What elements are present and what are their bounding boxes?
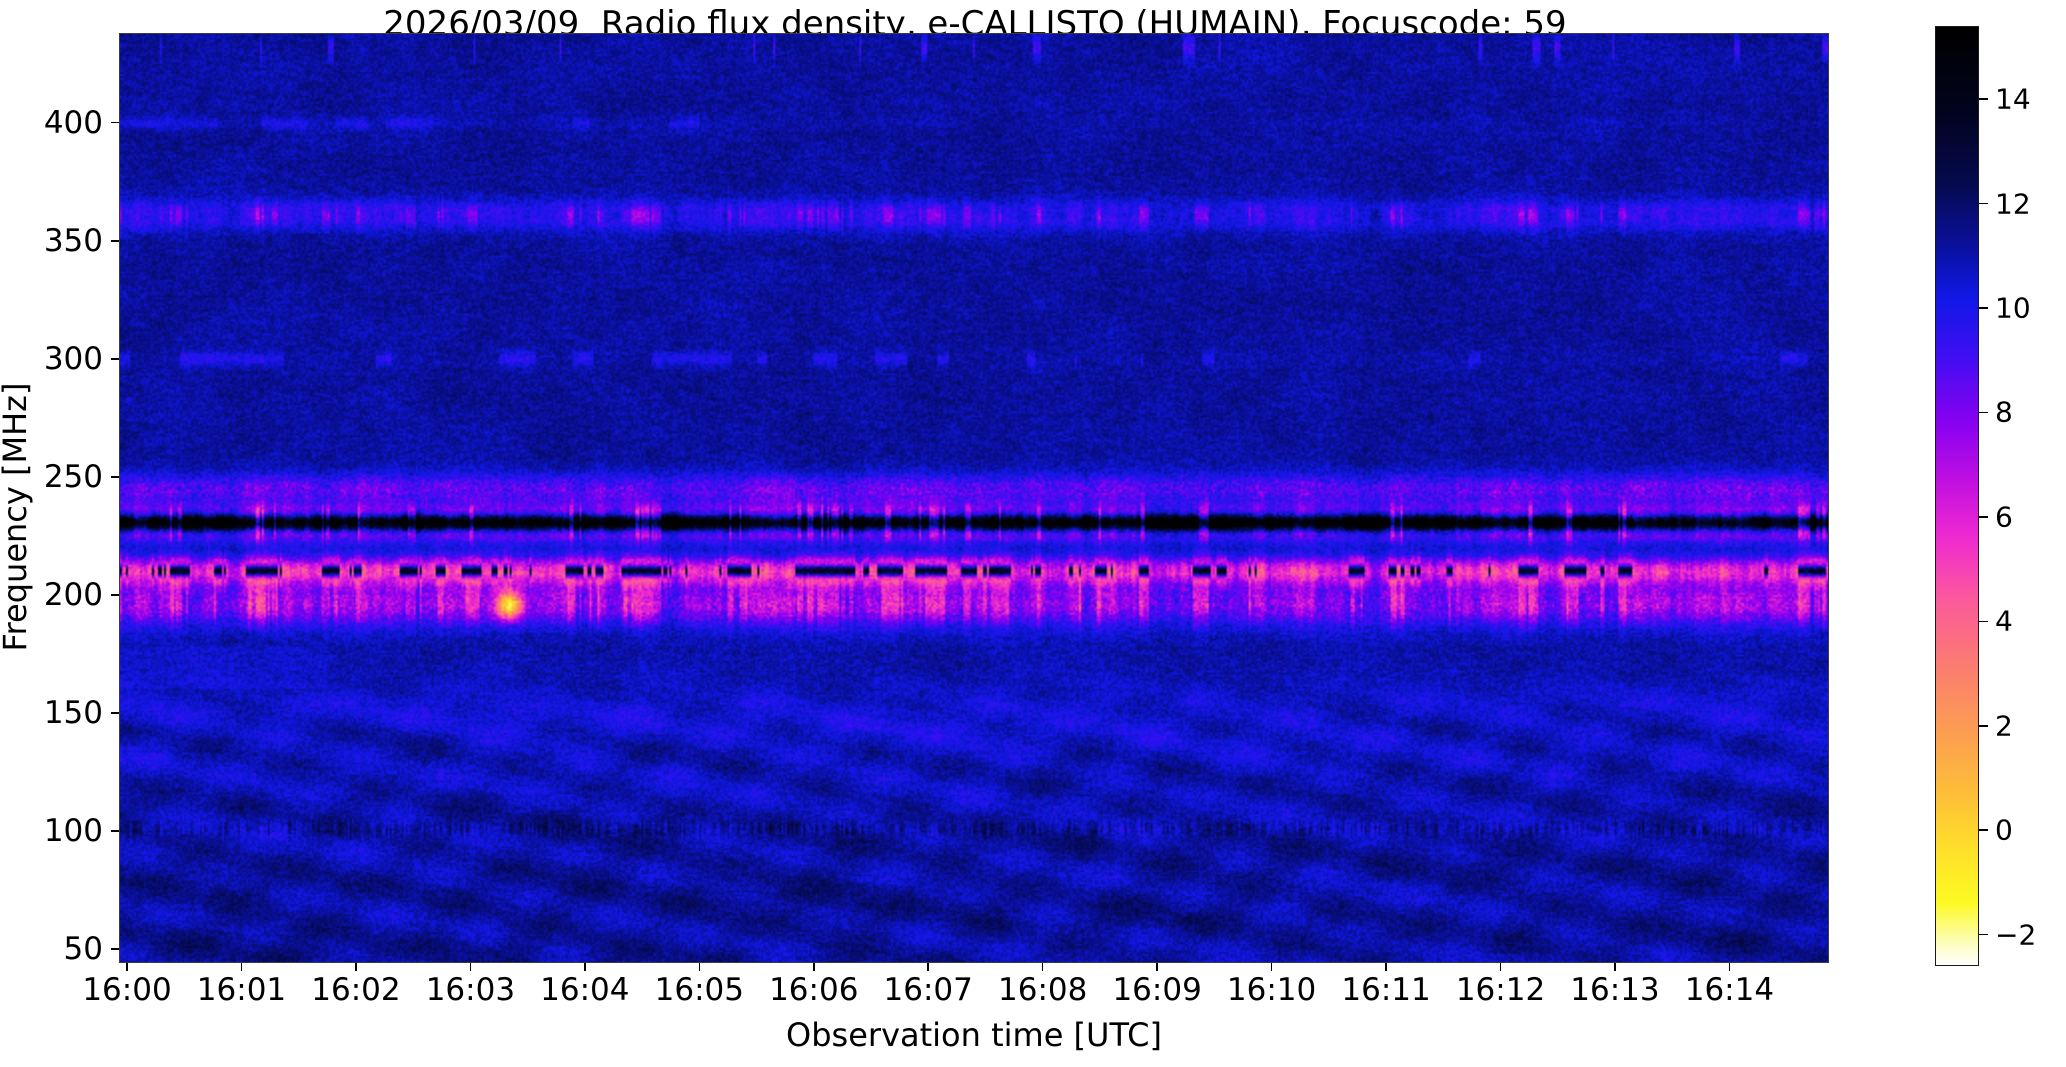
colorbar-tick-label: 10 [1995, 292, 2031, 325]
colorbar-tick-mark [1979, 203, 1988, 205]
x-tick-mark [126, 963, 128, 971]
x-tick-label: 16:12 [1456, 972, 1545, 1008]
x-tick-label: 16:10 [1227, 972, 1316, 1008]
y-tick-label: 350 [44, 223, 103, 259]
x-tick-label: 16:04 [540, 972, 629, 1008]
x-tick-mark [1729, 963, 1731, 971]
colorbar-tick-mark [1979, 829, 1988, 831]
colorbar-tick-label: 2 [1995, 709, 2013, 742]
figure-canvas: 2026/03/09 Radio flux density, e-CALLIST… [0, 0, 2066, 1067]
x-tick-mark [927, 963, 929, 971]
colorbar-tick-label: 14 [1995, 83, 2031, 116]
x-tick-label: 16:08 [998, 972, 1087, 1008]
x-tick-mark [355, 963, 357, 971]
x-tick-mark [241, 963, 243, 971]
x-tick-mark [470, 963, 472, 971]
x-tick-label: 16:14 [1685, 972, 1774, 1008]
x-tick-mark [1614, 963, 1616, 971]
y-tick-mark [111, 122, 119, 124]
x-axis-label: Observation time [UTC] [119, 1016, 1829, 1054]
spectrogram-axes[interactable] [119, 33, 1829, 963]
colorbar-tick-mark [1979, 516, 1988, 518]
x-tick-mark [1500, 963, 1502, 971]
x-tick-label: 16:09 [1112, 972, 1201, 1008]
colorbar-tick-mark [1979, 98, 1988, 100]
colorbar-tick-mark [1979, 934, 1988, 936]
y-tick-mark [111, 240, 119, 242]
x-tick-label: 16:02 [311, 972, 400, 1008]
x-tick-mark [1156, 963, 1158, 971]
colorbar-tick-mark [1979, 307, 1988, 309]
y-tick-mark [111, 712, 119, 714]
x-tick-label: 16:03 [426, 972, 515, 1008]
colorbar-tick-mark [1979, 725, 1988, 727]
y-tick-label: 50 [64, 931, 103, 967]
y-axis-label: Frequency [MHz] [0, 197, 34, 837]
colorbar-tick-label: 6 [1995, 500, 2013, 533]
colorbar-tick-label: 0 [1995, 814, 2013, 847]
spectrogram-image [120, 34, 1828, 962]
x-tick-mark [699, 963, 701, 971]
y-tick-label: 200 [44, 577, 103, 613]
colorbar-tick-label: 8 [1995, 396, 2013, 429]
colorbar-tick-label: −2 [1995, 918, 2036, 951]
x-tick-label: 16:11 [1341, 972, 1430, 1008]
x-tick-label: 16:00 [82, 972, 171, 1008]
y-tick-mark [111, 830, 119, 832]
y-tick-label: 250 [44, 459, 103, 495]
y-tick-mark [111, 476, 119, 478]
x-tick-mark [1271, 963, 1273, 971]
colorbar-tick-mark [1979, 412, 1988, 414]
x-tick-mark [1385, 963, 1387, 971]
x-tick-label: 16:05 [655, 972, 744, 1008]
x-tick-mark [813, 963, 815, 971]
y-tick-label: 400 [44, 105, 103, 141]
x-tick-mark [1042, 963, 1044, 971]
x-tick-mark [584, 963, 586, 971]
x-tick-label: 16:13 [1570, 972, 1659, 1008]
colorbar-tick-mark [1979, 621, 1988, 623]
x-tick-label: 16:01 [197, 972, 286, 1008]
y-tick-mark [111, 948, 119, 950]
y-tick-mark [111, 594, 119, 596]
colorbar-tick-label: 12 [1995, 187, 2031, 220]
y-tick-mark [111, 358, 119, 360]
x-tick-label: 16:06 [769, 972, 858, 1008]
y-tick-label: 300 [44, 341, 103, 377]
colorbar-axes[interactable] [1935, 26, 1979, 966]
colorbar-gradient [1936, 27, 1978, 965]
y-tick-label: 100 [44, 813, 103, 849]
colorbar-tick-label: 4 [1995, 605, 2013, 638]
x-tick-label: 16:07 [884, 972, 973, 1008]
y-tick-label: 150 [44, 695, 103, 731]
